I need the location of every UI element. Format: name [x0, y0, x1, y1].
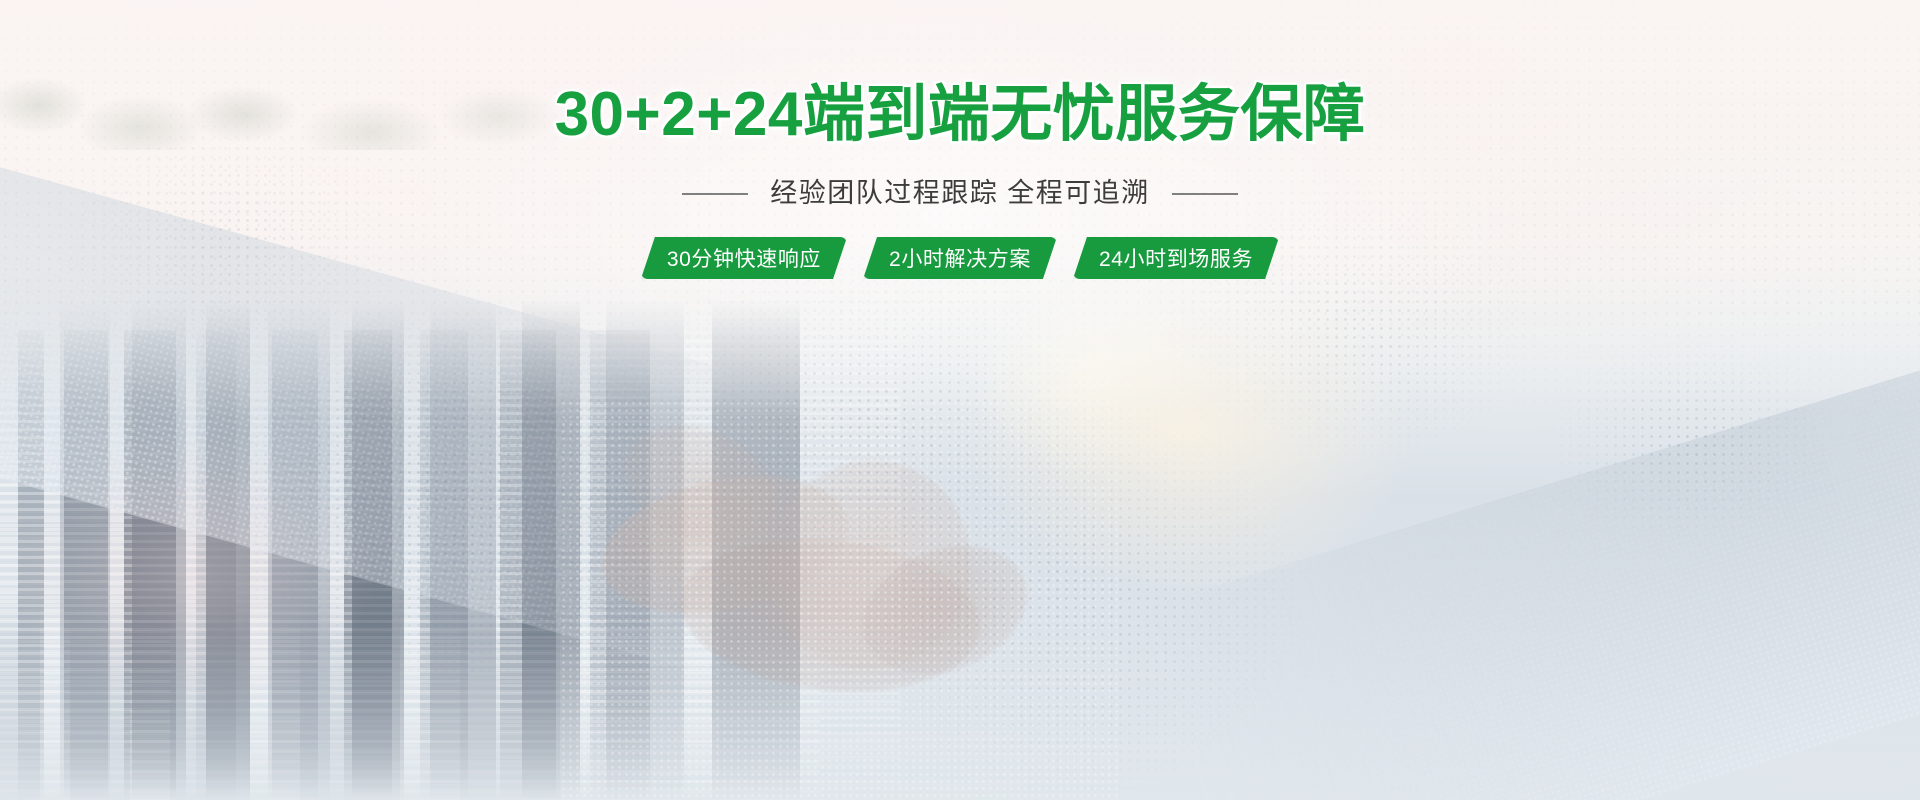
subtitle-row: 经验团队过程跟踪 全程可追溯 — [0, 180, 1920, 207]
hand-shape-4 — [844, 523, 1047, 698]
hand-shape-3 — [742, 434, 997, 696]
hand-shape-2 — [673, 525, 987, 706]
service-badge-list: 30分钟快速响应 2小时解决方案 24小时到场服务 — [0, 237, 1920, 279]
service-badge-response-time[interactable]: 30分钟快速响应 — [641, 237, 847, 279]
hero-banner: 30+2+24端到端无忧服务保障 经验团队过程跟踪 全程可追溯 30分钟快速响应… — [0, 0, 1920, 800]
cityscape-left-image — [0, 330, 720, 800]
divider-line-right — [1172, 193, 1238, 195]
hand-shape-1 — [589, 455, 861, 634]
page-title: 30+2+24端到端无忧服务保障 — [0, 84, 1920, 146]
service-badge-solution-time[interactable]: 2小时解决方案 — [863, 237, 1057, 279]
banner-content: 30+2+24端到端无忧服务保障 经验团队过程跟踪 全程可追溯 30分钟快速响应… — [0, 0, 1920, 279]
handshake-image — [560, 400, 1120, 800]
divider-line-left — [682, 193, 748, 195]
cityscape-right-image — [0, 300, 900, 800]
hand-shape-5 — [605, 402, 796, 568]
page-subtitle: 经验团队过程跟踪 全程可追溯 — [770, 180, 1150, 207]
suit-sleeve-right-image — [1136, 300, 1920, 800]
handshake-halftone-overlay — [560, 400, 1120, 800]
cityscape-left-lower-image — [0, 600, 820, 800]
service-badge-onsite-time[interactable]: 24小时到场服务 — [1073, 237, 1279, 279]
